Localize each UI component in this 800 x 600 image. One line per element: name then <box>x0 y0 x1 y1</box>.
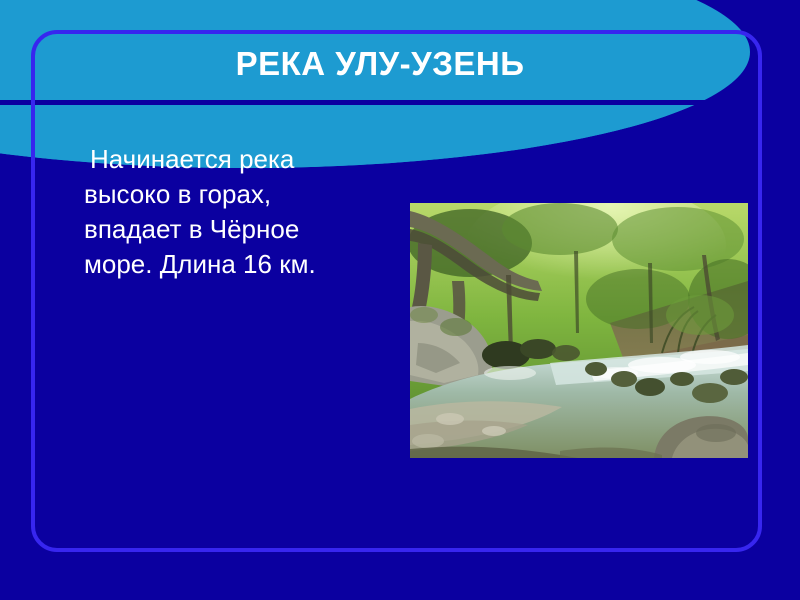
slide-title: РЕКА УЛУ-УЗЕНЬ <box>0 44 760 84</box>
presentation-slide: РЕКА УЛУ-УЗЕНЬ Начинается река высоко в … <box>0 0 800 600</box>
body-line-2: высоко в горах, <box>78 177 408 212</box>
river-photo <box>410 203 748 458</box>
banner-divider-line <box>0 100 800 105</box>
body-line-1: Начинается река <box>78 142 408 177</box>
slide-body-text: Начинается река высоко в горах, впадает … <box>78 142 408 282</box>
body-line-3: впадает в Чёрное <box>78 212 408 247</box>
river-photo-illustration <box>410 203 748 458</box>
body-line-4: море. Длина 16 км. <box>78 247 408 282</box>
